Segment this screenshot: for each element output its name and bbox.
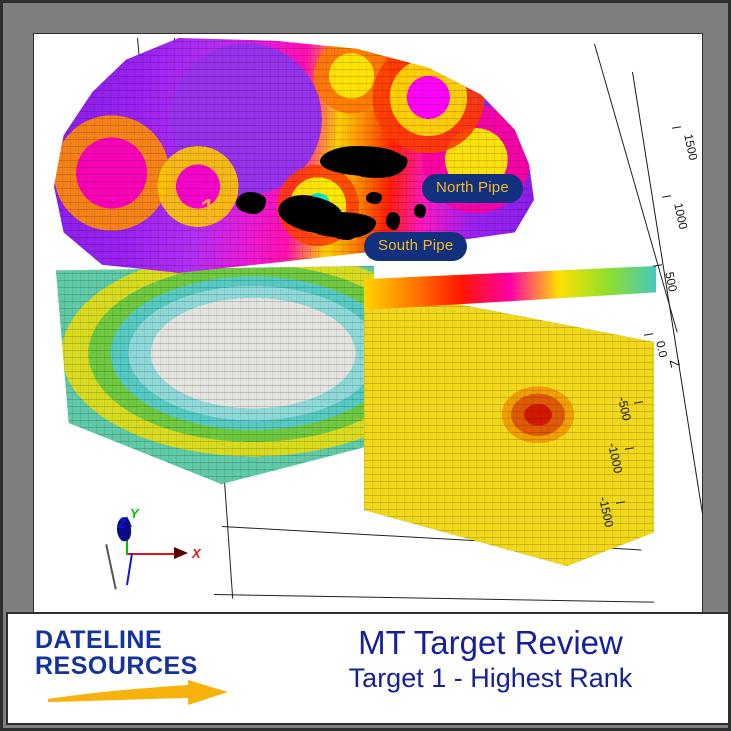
point-cloud-scatter-a — [366, 192, 382, 204]
z-ticklabel-500: 500 — [662, 271, 680, 294]
triad-x-axis — [126, 553, 178, 555]
axis-triad: X Y Z — [96, 504, 206, 594]
triad-z-label: Z — [118, 516, 126, 531]
triad-reference-line — [105, 544, 117, 589]
triad-x-label: X — [192, 546, 201, 561]
z-tick-1000 — [662, 195, 671, 197]
model-front-face — [56, 266, 374, 484]
footer-bar: DATELINE RESOURCES MT Target Review Targ… — [6, 612, 731, 725]
logo-line-1: DATELINE — [35, 628, 235, 654]
z-ticklabel-1000: 1000 — [671, 202, 690, 231]
z-ticklabel-0: 0.0 — [653, 340, 670, 359]
point-cloud-scatter-b — [386, 212, 400, 230]
slide-title: MT Target Review — [258, 624, 723, 663]
callout-south-pipe[interactable]: South Pipe — [364, 232, 467, 261]
target-number-label: 1 — [199, 194, 217, 227]
model-stage: 1 North Pipe South Pipe 1500 1000 500 0.… — [34, 34, 702, 612]
logo-line-2: RESOURCES — [35, 654, 235, 680]
voxel-grid-front — [56, 266, 374, 484]
z-tick-1500 — [672, 126, 681, 128]
slide-titles: MT Target Review Target 1 - Highest Rank — [258, 624, 723, 695]
callout-north-pipe[interactable]: North Pipe — [422, 174, 523, 203]
logo-arrow-icon — [48, 680, 228, 706]
wireframe-edge-bottom-left — [214, 594, 654, 603]
slide-subtitle: Target 1 - Highest Rank — [258, 663, 723, 695]
triad-y-label: Y — [130, 506, 139, 521]
company-logo: DATELINE RESOURCES — [35, 628, 235, 679]
triad-x-arrowhead — [174, 547, 188, 559]
point-cloud-west — [236, 192, 266, 214]
z-ticklabel-1500: 1500 — [681, 133, 700, 162]
point-cloud-scatter-c — [334, 230, 356, 240]
slide-canvas: 1 North Pipe South Pipe 1500 1000 500 0.… — [0, 0, 731, 731]
z-tick-0 — [644, 333, 653, 335]
point-cloud-scatter-d — [414, 204, 426, 218]
triad-z-axis — [126, 553, 133, 585]
model-viewport[interactable]: 1 North Pipe South Pipe 1500 1000 500 0.… — [33, 33, 703, 613]
z-axis-name: Z — [667, 358, 683, 369]
model-rim-band — [364, 266, 656, 310]
